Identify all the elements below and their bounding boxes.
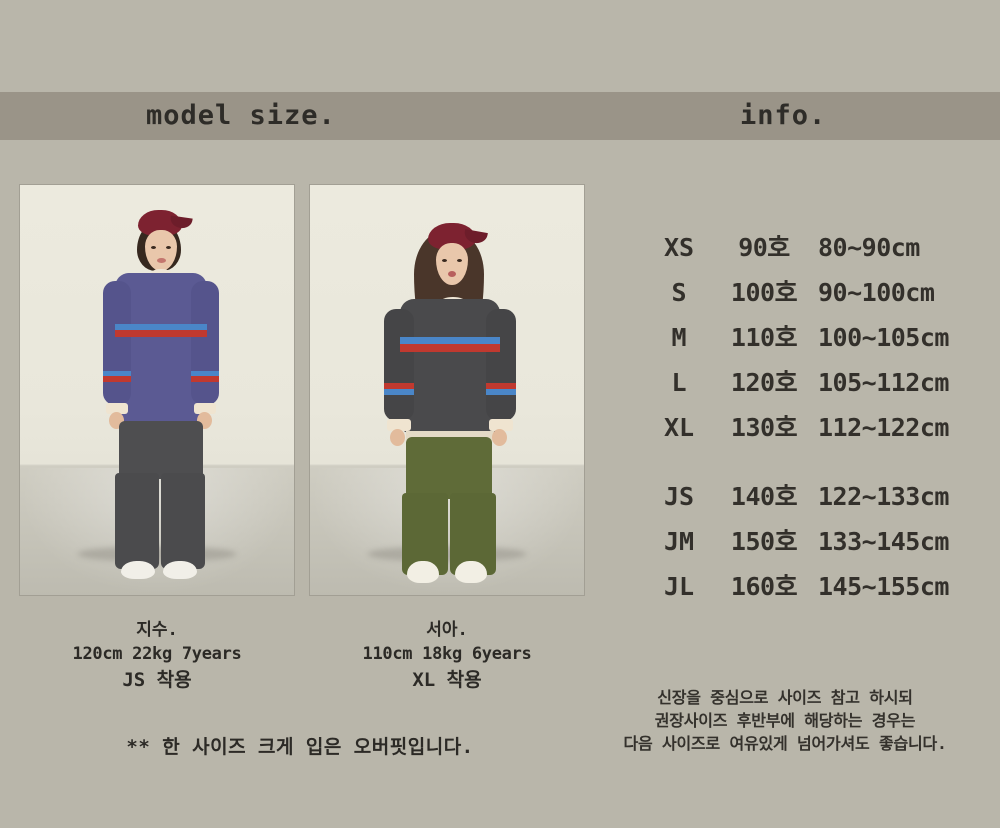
size-code: JM <box>648 527 710 556</box>
model-photo-right <box>310 185 584 595</box>
model-worn-size: JS 착용 <box>20 667 294 694</box>
size-height-range: 133~145cm <box>818 527 983 556</box>
model-worn-size: XL 착용 <box>310 667 584 694</box>
size-ho: 150호 <box>710 522 818 558</box>
note-line-3: 다음 사이즈로 여유있게 넘어가셔도 좋습니다. <box>570 732 1000 755</box>
model-name: 서아. <box>310 618 584 642</box>
leg-right <box>161 473 205 569</box>
size-row-l: L120호105~112cm <box>648 363 983 408</box>
eye-left <box>442 259 447 262</box>
size-code: XS <box>648 233 710 262</box>
model-photo-left <box>20 185 294 595</box>
size-ho: 110호 <box>710 318 818 354</box>
sleeve-stripe-red-right <box>191 376 219 382</box>
model-name: 지수. <box>20 618 294 642</box>
pants <box>119 421 203 479</box>
mouth <box>448 271 456 277</box>
sleeve-stripe-blue-left <box>384 389 414 395</box>
model-measurements: 110cm 18kg 6years <box>310 642 584 667</box>
size-height-range: 105~112cm <box>818 368 983 397</box>
shoe-left <box>407 561 439 583</box>
model-figure-boy <box>20 185 294 595</box>
sleeve-stripe-red-left <box>103 376 131 382</box>
size-height-range: 112~122cm <box>818 413 983 442</box>
sleeve-stripe-blue-right <box>486 389 516 395</box>
sleeve-left <box>103 281 131 405</box>
eye-left <box>151 246 156 249</box>
size-height-range: 90~100cm <box>818 278 983 307</box>
sweatshirt-body <box>400 299 500 433</box>
eye-right <box>166 246 171 249</box>
size-ho: 100호 <box>710 273 818 309</box>
size-row-jm: JM150호133~145cm <box>648 522 983 567</box>
chest-stripe-blue <box>400 337 500 344</box>
model-caption-left: 지수. 120cm 22kg 7years JS 착용 <box>20 618 294 694</box>
size-height-range: 145~155cm <box>818 572 983 601</box>
size-ho: 130호 <box>710 408 818 444</box>
size-row-m: M110호100~105cm <box>648 318 983 363</box>
shoe-right <box>455 561 487 583</box>
size-code: JS <box>648 482 710 511</box>
chest-stripe-red <box>115 330 207 337</box>
shoe-left <box>121 561 155 579</box>
note-line-2: 권장사이즈 후반부에 해당하는 경우는 <box>570 709 1000 732</box>
size-ho: 140호 <box>710 477 818 513</box>
size-ho: 90호 <box>710 228 818 264</box>
size-guide-page: model size. info. <box>0 0 1000 828</box>
page-title-info: info. <box>740 98 826 134</box>
size-code: L <box>648 368 710 397</box>
model-measurements: 120cm 22kg 7years <box>20 642 294 667</box>
size-code: M <box>648 323 710 352</box>
size-code: JL <box>648 572 710 601</box>
size-code: XL <box>648 413 710 442</box>
overfit-note: ** 한 사이즈 크게 입은 오버핏입니다. <box>20 732 580 759</box>
size-row-s: S100호90~100cm <box>648 273 983 318</box>
chest-stripe-red <box>400 344 500 352</box>
mouth <box>157 258 166 263</box>
leg-left <box>115 473 159 569</box>
size-height-range: 100~105cm <box>818 323 983 352</box>
size-height-range: 80~90cm <box>818 233 983 262</box>
sleeve-left <box>384 309 414 421</box>
note-line-1: 신장을 중심으로 사이즈 참고 하시되 <box>570 686 1000 709</box>
size-row-js: JS140호122~133cm <box>648 477 983 522</box>
sleeve-right <box>486 309 516 421</box>
size-code: S <box>648 278 710 307</box>
size-table: XS90호80~90cmS100호90~100cmM110호100~105cmL… <box>648 228 983 612</box>
sleeve-right <box>191 281 219 405</box>
pants <box>406 437 492 499</box>
model-caption-right: 서아. 110cm 18kg 6years XL 착용 <box>310 618 584 694</box>
page-title-model-size: model size. <box>146 98 336 134</box>
sizing-guidance-note: 신장을 중심으로 사이즈 참고 하시되 권장사이즈 후반부에 해당하는 경우는 … <box>570 686 1000 755</box>
hand-left <box>390 429 405 446</box>
model-figure-girl <box>310 185 584 595</box>
eye-right <box>457 259 462 262</box>
size-ho: 160호 <box>710 567 818 603</box>
size-ho: 120호 <box>710 363 818 399</box>
shoe-right <box>163 561 197 579</box>
size-height-range: 122~133cm <box>818 482 983 511</box>
size-row-xs: XS90호80~90cm <box>648 228 983 273</box>
hand-right <box>492 429 507 446</box>
size-row-jl: JL160호145~155cm <box>648 567 983 612</box>
size-row-xl: XL130호112~122cm <box>648 408 983 453</box>
